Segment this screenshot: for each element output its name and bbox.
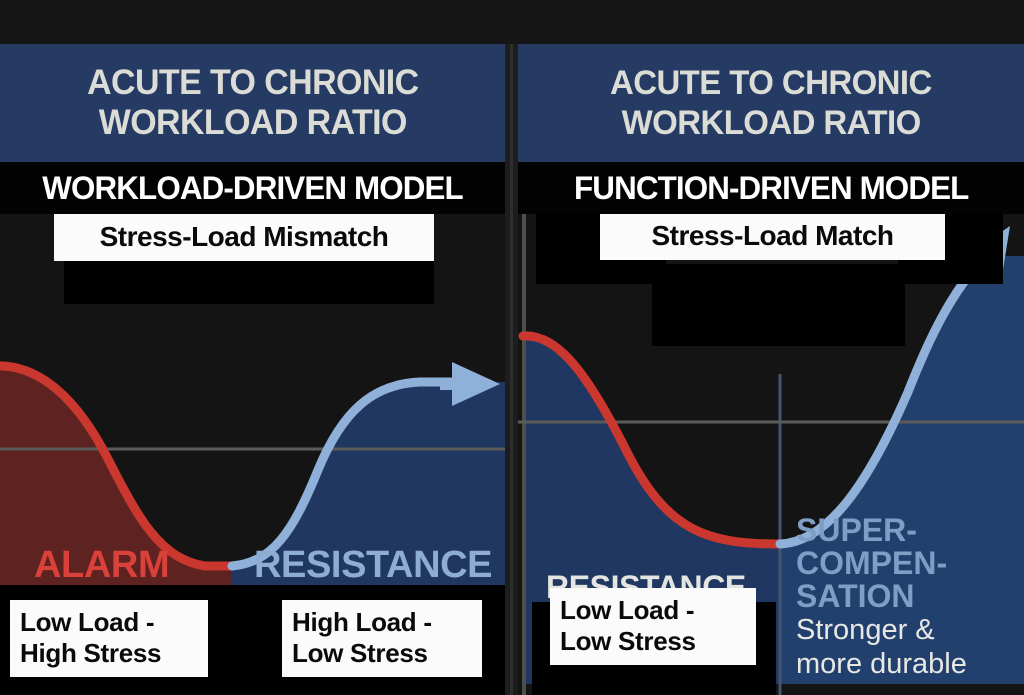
panel-right-banner-line1: ACUTE TO CHRONIC [610, 63, 932, 103]
top-letterbox-strip [0, 0, 1024, 44]
panel-right-banner-line2: WORKLOAD RATIO [621, 103, 920, 143]
phase-label-resistance: RESISTANCE [254, 544, 492, 587]
figure-root: ACUTE TO CHRONIC WORKLOAD RATIO WORKLOAD… [0, 0, 1024, 695]
panel-right-banner: ACUTE TO CHRONIC WORKLOAD RATIO [518, 44, 1024, 162]
panel-left-model-bar: WORKLOAD-DRIVEN MODEL [0, 162, 505, 214]
panel-left-banner-line2: WORKLOAD RATIO [98, 103, 406, 143]
footnote-right-line1: High Load - [292, 607, 472, 638]
supercompensation-line1: SUPER- [796, 514, 1021, 547]
panel-right-model-label: FUNCTION-DRIVEN MODEL [574, 170, 968, 207]
panel-right-model-bar: FUNCTION-DRIVEN MODEL [518, 162, 1024, 214]
supercompensation-sub-line1: Stronger & [796, 613, 1021, 647]
phase-label-supercompensation: SUPER- COMPEN- SATION Stronger & more du… [796, 514, 1021, 681]
panel-workload-driven-model: ACUTE TO CHRONIC WORKLOAD RATIO WORKLOAD… [0, 44, 505, 695]
footnote-high-load-low-stress: High Load - Low Stress [282, 600, 482, 677]
redaction-block-left [64, 259, 434, 304]
footnote-right-panel-line2: Low Stress [560, 626, 746, 657]
callout-stress-load-match: Stress-Load Match [600, 214, 945, 260]
phase-label-alarm: ALARM [34, 544, 169, 587]
supercompensation-line3: SATION [796, 580, 1021, 613]
redaction-block-right-center [652, 264, 905, 346]
footnote-low-load-low-stress: Low Load - Low Stress [550, 588, 756, 665]
supercompensation-line2: COMPEN- [796, 547, 1021, 580]
callout-stress-load-mismatch: Stress-Load Mismatch [54, 214, 434, 261]
panel-left-model-label: WORKLOAD-DRIVEN MODEL [42, 170, 462, 207]
footnote-right-line2: Low Stress [292, 638, 472, 669]
panel-function-driven-model: ACUTE TO CHRONIC WORKLOAD RATIO FUNCTION… [518, 44, 1024, 695]
footnote-right-panel-line1: Low Load - [560, 595, 746, 626]
panel-divider [505, 44, 518, 695]
supercompensation-sub-line2: more durable [796, 647, 1021, 681]
panel-left-banner-line1: ACUTE TO CHRONIC [87, 63, 418, 103]
footnote-low-load-high-stress: Low Load - High Stress [10, 600, 208, 677]
footnote-left-line2: High Stress [20, 638, 198, 669]
footnote-left-line1: Low Load - [20, 607, 198, 638]
panel-left-banner: ACUTE TO CHRONIC WORKLOAD RATIO [0, 44, 505, 162]
